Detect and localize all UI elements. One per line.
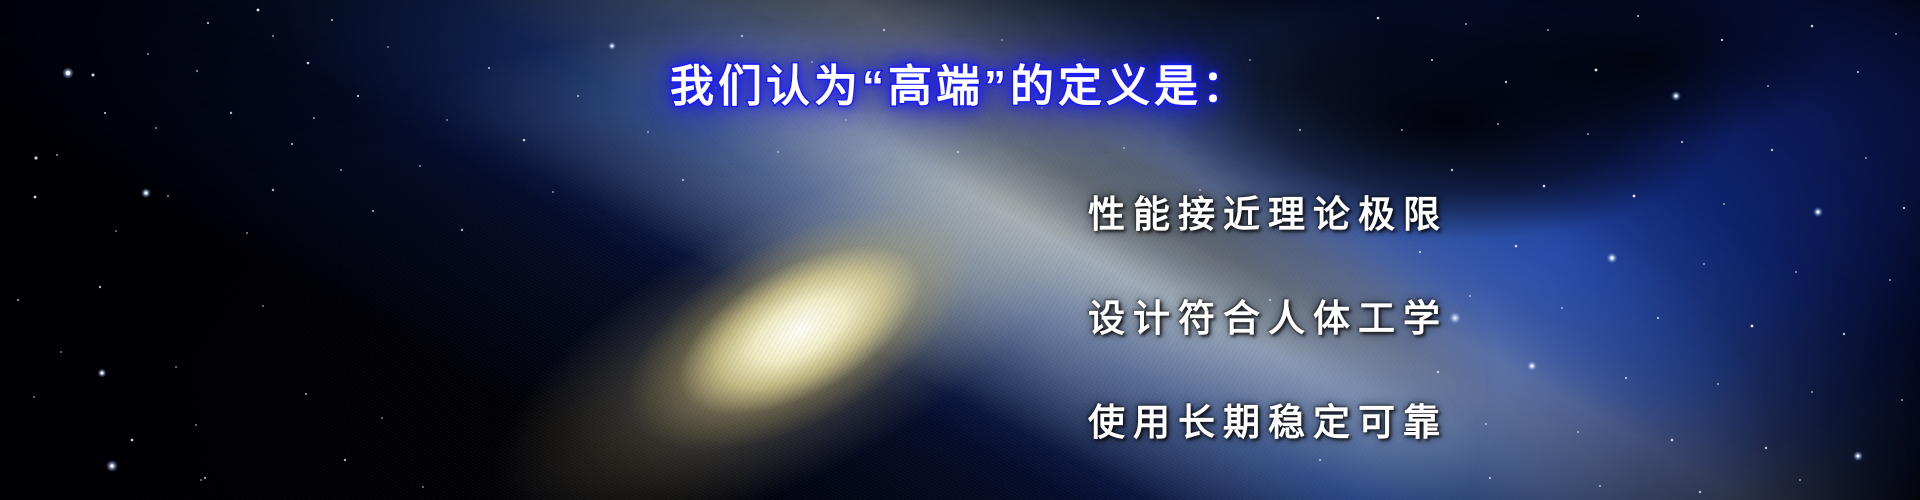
list-item: 设计符合人体工学 [1088,300,1448,337]
feature-list: 性能接近理论极限 设计符合人体工学 使用长期稳定可靠 [1088,196,1448,441]
list-item: 性能接近理论极限 [1088,196,1448,233]
page-title: 我们认为“高端”的定义是： [0,65,1920,109]
space-banner: 我们认为“高端”的定义是： 性能接近理论极限 设计符合人体工学 使用长期稳定可靠 [0,0,1920,500]
list-item: 使用长期稳定可靠 [1088,404,1448,441]
